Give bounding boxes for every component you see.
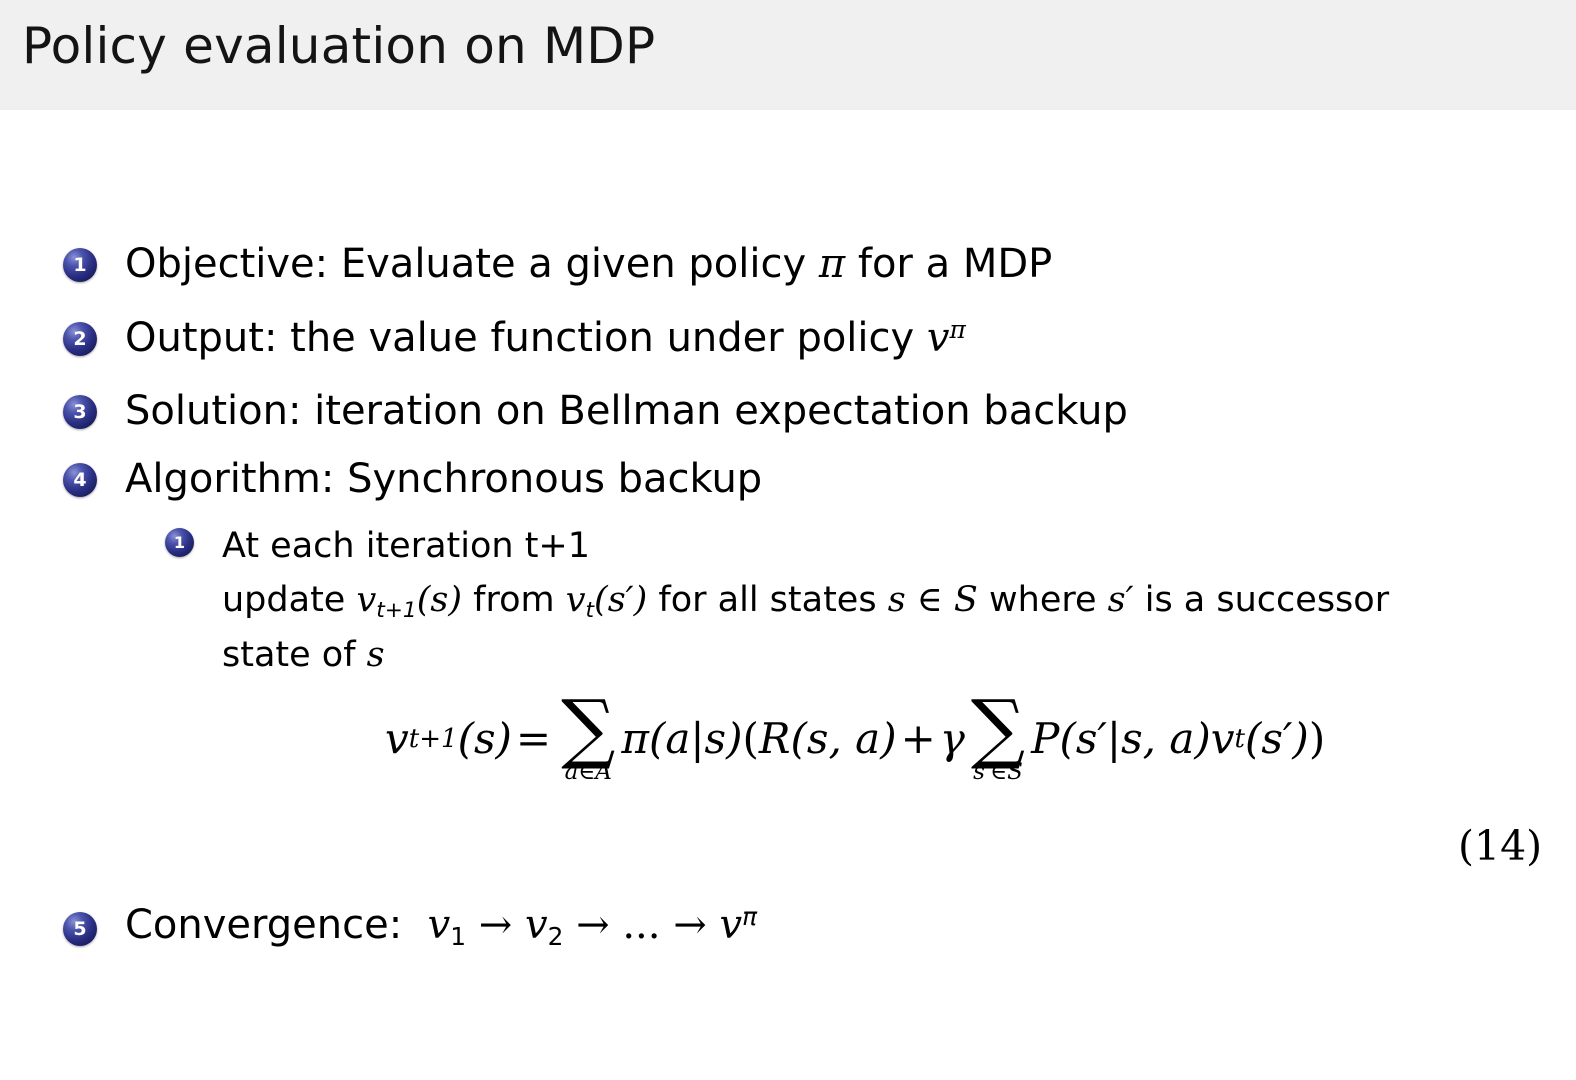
list-item-output: Output: the value function under policy … (125, 318, 966, 358)
sigma-icon-2: ∑ (971, 697, 1025, 759)
phrase-is-a-successor: is a successor (1145, 580, 1389, 620)
eq-gamma-symbol: γ (940, 714, 965, 763)
eq-vt-arg: (s′) (1245, 714, 1309, 763)
pi-superscript: π (950, 315, 966, 344)
v-next-symbol: v (356, 580, 376, 620)
bullet-marker-2: 2 (63, 322, 97, 356)
eq-reward-arg: (s, a) (791, 714, 897, 763)
word-update: update (222, 580, 345, 620)
list-item-objective: Objective: Evaluate a given policy π for… (125, 244, 1052, 284)
arrow-icon-3: → (673, 902, 707, 948)
bullet-marker-3: 3 (63, 395, 97, 429)
page-title: Policy evaluation on MDP (22, 19, 655, 74)
list-item-objective-text: Objective: Evaluate a given policy (125, 241, 819, 287)
phrase-state-of: state of (222, 635, 367, 675)
arrow-icon-1: → (479, 902, 513, 948)
vpi-symbol: v (719, 902, 742, 948)
convergence-label: Convergence: (125, 902, 402, 948)
list-item-algorithm: Algorithm: Synchronous backup (125, 459, 762, 499)
eq-vt-symbol: v (1211, 714, 1235, 763)
summation-states-limit: s′∈S (973, 761, 1023, 784)
summation-over-next-states: ∑ s′∈S (971, 697, 1025, 784)
ellipsis-symbol: ... (622, 902, 660, 948)
word-where: where (989, 580, 1097, 620)
list-item-objective-suffix: for a MDP (845, 241, 1052, 287)
eq-open-paren: ( (743, 714, 759, 763)
eq-reward-symbol: R (759, 714, 791, 763)
bullet-marker-1: 1 (63, 248, 97, 282)
v-t-symbol: v (566, 580, 586, 620)
v2-subscript: 2 (548, 922, 564, 951)
eq-lhs-arg: (s) (458, 714, 512, 763)
value-function-symbol: v (927, 315, 950, 361)
sublist-line-3: state of s (222, 628, 1552, 682)
state-space-symbol: S (954, 580, 978, 620)
eq-transition-arg: (s′|s, a) (1059, 714, 1210, 763)
state-s-symbol: s (888, 580, 906, 620)
list-item-convergence: Convergence: v1 → v2 → ... → vπ (125, 905, 757, 945)
slide-content: 1 Objective: Evaluate a given policy π f… (0, 110, 1576, 1080)
sublist-line-2: update vt+1(s) from vt(s′) for all state… (222, 573, 1552, 627)
eq-equals-sign: = (512, 714, 555, 763)
sublist-line-1: At each iteration t+1 (222, 519, 1552, 573)
bullet-marker-4: 4 (63, 463, 97, 497)
arrow-icon-2: → (576, 902, 610, 948)
phrase-for-all-states: for all states (658, 580, 876, 620)
v-t-arg: (s′) (594, 580, 647, 620)
v-next-subscript: t+1 (376, 598, 416, 623)
eq-plus-sign: + (897, 714, 940, 763)
eq-policy-symbol: π (621, 714, 649, 763)
pi-symbol: π (819, 241, 845, 287)
eq-close-paren: ) (1309, 714, 1325, 763)
bullet-marker-5: 5 (63, 912, 97, 946)
state-sprime-symbol: s′ (1108, 580, 1134, 620)
eq-lhs-v: v (385, 714, 409, 763)
state-s-symbol-2: s (367, 635, 385, 675)
equation-number: (14) (1458, 822, 1542, 870)
v-next-arg: (s) (417, 580, 462, 620)
vpi-superscript: π (742, 902, 757, 931)
list-item-output-text: Output: the value function under policy (125, 315, 927, 361)
summation-actions-limit: a∈A (565, 761, 612, 784)
eq-policy-arg: (a|s) (649, 714, 743, 763)
v1-subscript: 1 (450, 922, 466, 951)
summation-over-actions: ∑ a∈A (561, 697, 615, 784)
v-t-subscript: t (586, 598, 595, 623)
eq-transition-symbol: P (1031, 714, 1059, 763)
sublist-item-iteration: At each iteration t+1 update vt+1(s) fro… (222, 519, 1552, 682)
sigma-icon: ∑ (561, 697, 615, 759)
element-of-symbol: ∈ (917, 580, 943, 620)
list-item-solution: Solution: iteration on Bellman expectati… (125, 391, 1128, 431)
bullet-marker-sub-1: 1 (165, 528, 194, 557)
display-equation: vt+1(s) = ∑ a∈A π(a|s)(R(s, a) + γ ∑ s′∈… (385, 695, 1325, 782)
word-from: from (473, 580, 554, 620)
v1-symbol: v (428, 902, 451, 948)
v2-symbol: v (525, 902, 548, 948)
